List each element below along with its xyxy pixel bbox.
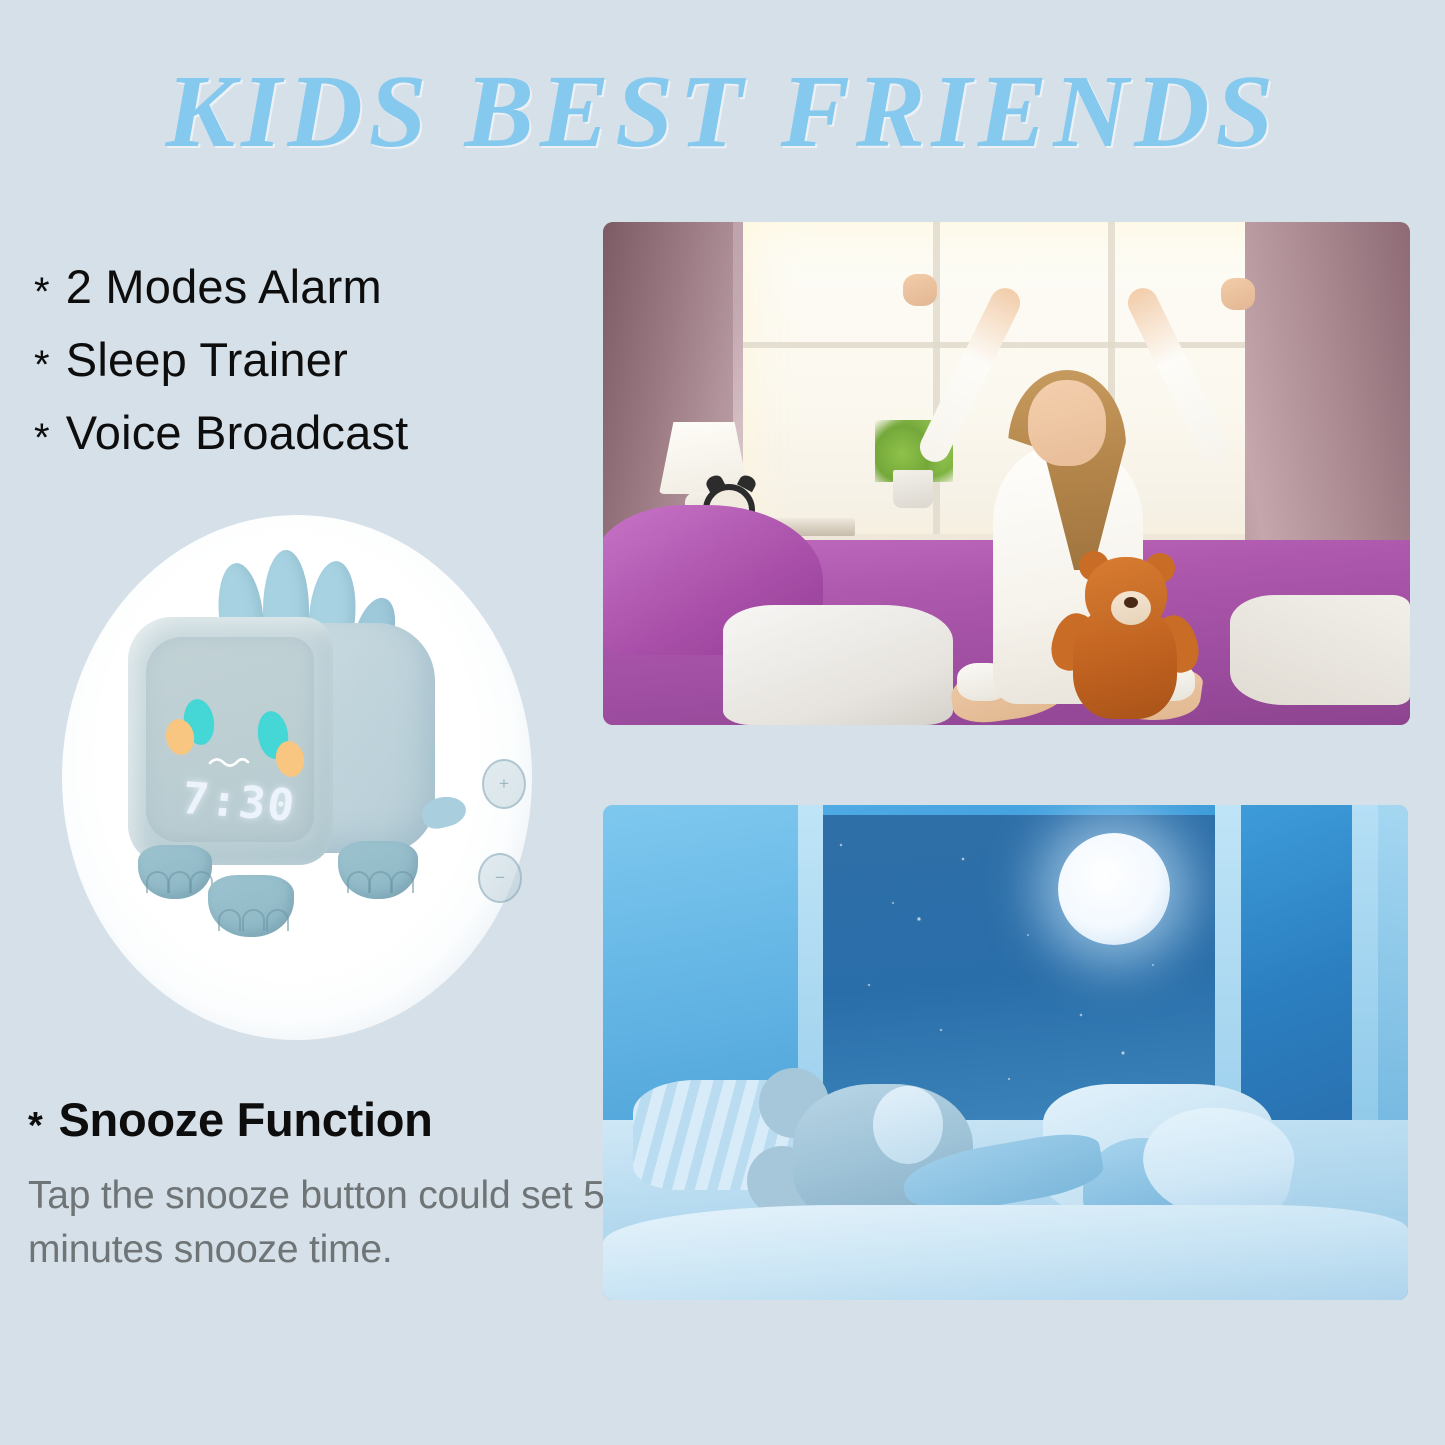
dino-foot bbox=[338, 841, 418, 899]
dino-foot bbox=[138, 845, 212, 899]
plus-icon: + bbox=[499, 774, 509, 794]
feature-label: 2 Modes Alarm bbox=[66, 262, 382, 313]
bullet-star-icon: * bbox=[28, 1107, 43, 1145]
dino-foot bbox=[208, 875, 294, 937]
snooze-heading-row: * Snooze Function bbox=[28, 1092, 608, 1147]
table-lamp bbox=[659, 422, 749, 494]
feature-item-sleep-trainer: * Sleep Trainer bbox=[34, 335, 574, 386]
girl-head bbox=[1028, 380, 1106, 466]
feature-label: Sleep Trainer bbox=[66, 335, 348, 386]
bullet-star-icon: * bbox=[34, 272, 50, 312]
potted-plant bbox=[893, 470, 933, 508]
feature-list: * 2 Modes Alarm * Sleep Trainer * Voice … bbox=[34, 262, 574, 480]
blanket bbox=[603, 1205, 1408, 1300]
clock-time-display: 7:30 bbox=[179, 773, 299, 832]
window-mullion bbox=[743, 342, 1303, 348]
bullet-star-icon: * bbox=[34, 345, 50, 385]
teddy-bear bbox=[1055, 551, 1193, 721]
white-pillow bbox=[723, 605, 953, 725]
morning-wake-up-photo bbox=[603, 222, 1410, 725]
snooze-section: * Snooze Function Tap the snooze button … bbox=[28, 1092, 608, 1277]
feature-item-voice-broadcast: * Voice Broadcast bbox=[34, 408, 574, 459]
volume-down-button[interactable]: − bbox=[478, 853, 522, 903]
product-image: + − 7:30 bbox=[40, 505, 550, 1065]
page-title: KIDS BEST FRIENDS bbox=[0, 60, 1445, 164]
white-blanket bbox=[1230, 595, 1410, 705]
volume-up-button[interactable]: + bbox=[482, 759, 526, 809]
clock-screen: 7:30 bbox=[146, 637, 314, 842]
mouth-icon bbox=[208, 755, 250, 769]
snooze-heading: Snooze Function bbox=[59, 1092, 433, 1147]
snooze-description: Tap the snooze button could set 5 minute… bbox=[28, 1169, 608, 1277]
moon-icon bbox=[1058, 833, 1170, 945]
bullet-star-icon: * bbox=[34, 418, 50, 458]
feature-label: Voice Broadcast bbox=[66, 408, 409, 459]
clock-front-face: 7:30 bbox=[128, 617, 333, 865]
girl-fist-right bbox=[1221, 278, 1255, 310]
night-sleep-photo bbox=[603, 805, 1408, 1300]
product-feature-page: KIDS BEST FRIENDS * 2 Modes Alarm * Slee… bbox=[0, 0, 1445, 1445]
minus-icon: − bbox=[495, 868, 505, 888]
window-mullion bbox=[933, 222, 940, 552]
girl-fist-left bbox=[903, 274, 937, 306]
feature-item-modes-alarm: * 2 Modes Alarm bbox=[34, 262, 574, 313]
dinosaur-alarm-clock: + − 7:30 bbox=[100, 545, 500, 995]
